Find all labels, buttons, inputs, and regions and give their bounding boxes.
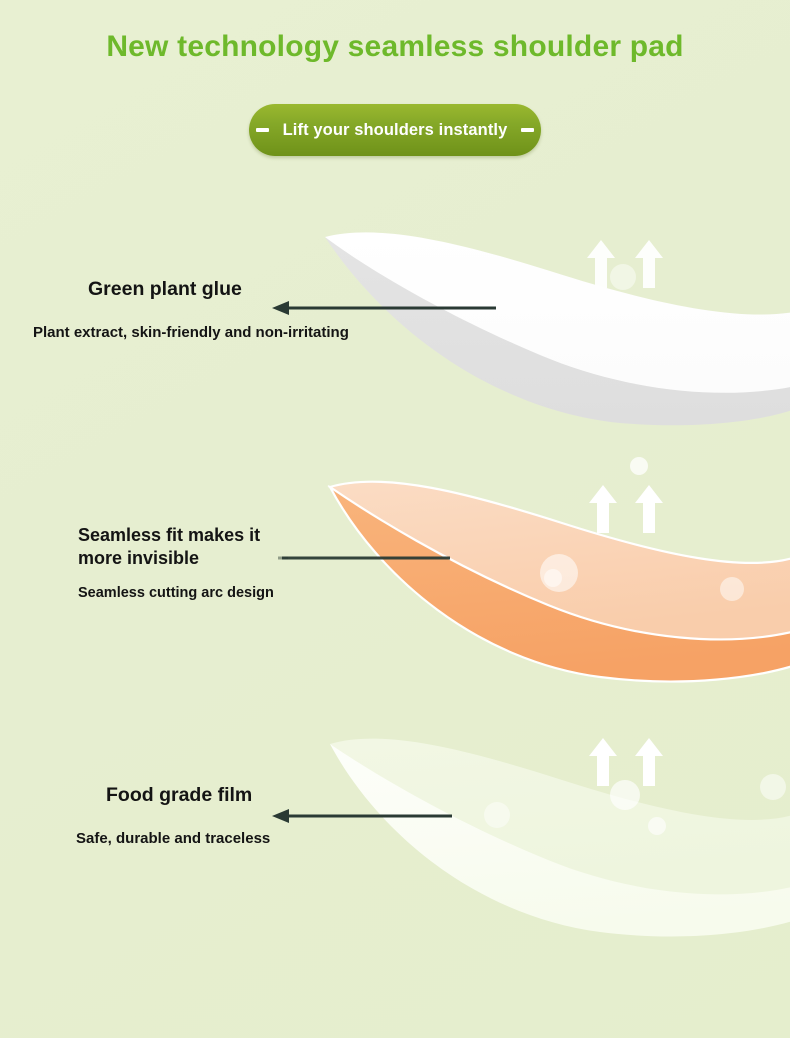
feature-heading: Seamless fit makes it more invisible: [78, 524, 274, 569]
feature-seamless-fit: Seamless fit makes it more invisible Sea…: [78, 524, 274, 601]
arrow-up-icon-2b: [634, 485, 664, 533]
bubble-icon-3b: [482, 800, 512, 830]
arrow-up-icon-2a: [588, 485, 618, 533]
white-shoulder-pad: [300, 215, 790, 460]
dash-icon-left: [256, 128, 269, 132]
product-infographic: New technology seamless shoulder pad Lif…: [0, 0, 790, 1038]
badge-label: Lift your shoulders instantly: [283, 121, 508, 140]
badge-content: Lift your shoulders instantly: [265, 121, 525, 140]
bubble-icon-3d: [758, 772, 788, 802]
film-shoulder-pad: [318, 722, 790, 954]
lift-shoulders-badge[interactable]: Lift your shoulders instantly: [249, 104, 541, 156]
bubble-icon-2c: [718, 575, 746, 603]
page-title: New technology seamless shoulder pad: [0, 30, 790, 64]
feature-heading: Food grade film: [106, 784, 270, 807]
bubble-icon-1: [608, 262, 638, 292]
feature-subtext: Plant extract, skin-friendly and non-irr…: [33, 324, 349, 341]
dash-icon-right: [521, 128, 534, 132]
feature-subtext: Seamless cutting arc design: [78, 585, 274, 601]
bubble-icon-2b: [538, 552, 580, 594]
left-arrow-icon-3: [272, 806, 452, 826]
left-arrow-icon-1: [272, 298, 496, 318]
arrow-up-icon-1b: [634, 240, 664, 288]
bubble-icon-3a: [608, 778, 642, 812]
plain-line-icon-2: [278, 552, 450, 564]
feature-subtext: Safe, durable and traceless: [76, 830, 270, 847]
bubble-icon-3c: [646, 815, 668, 837]
feature-food-grade-film: Food grade film Safe, durable and tracel…: [106, 784, 270, 847]
bubble-icon-2a: [628, 455, 650, 477]
